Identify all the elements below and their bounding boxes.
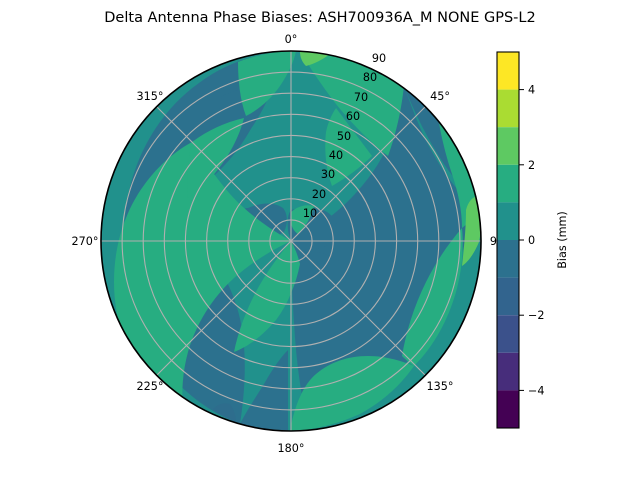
- angular-tick-135: 135°: [427, 380, 454, 393]
- colorbar-tick-neg2: −2: [528, 309, 545, 322]
- matplotlib-figure: Delta Antenna Phase Biases: ASH700936A_M…: [0, 0, 640, 480]
- radial-tick-70: 70: [354, 91, 368, 104]
- radial-tick-10: 10: [303, 207, 317, 220]
- colorbar-band-0to1: [497, 202, 519, 240]
- colorbar-band-1to2: [497, 165, 519, 203]
- polar-grid: [101, 51, 481, 431]
- colorbar-band-neg4toneg3: [497, 353, 519, 391]
- angular-tick-315: 315°: [137, 90, 164, 103]
- colorbar-band-neg5toneg4: [497, 390, 519, 428]
- angular-tick-180: 180°: [278, 442, 305, 455]
- angular-tick-0: 0°: [285, 33, 298, 46]
- angular-tick-270: 270°: [72, 235, 99, 248]
- radial-tick-60: 60: [346, 110, 360, 123]
- radial-tick-90: 90: [372, 52, 386, 65]
- page-title: Delta Antenna Phase Biases: ASH700936A_M…: [104, 10, 535, 26]
- colorbar-tick-4: 4: [528, 84, 535, 97]
- radial-tick-20: 20: [312, 188, 326, 201]
- colorbar-band-neg3toneg2: [497, 315, 519, 353]
- colorbar-band-neg1to0: [497, 240, 519, 278]
- colorbar-tick-neg4: −4: [528, 384, 545, 397]
- colorbar-tick-2: 2: [528, 159, 535, 172]
- polar-plot-area: 0° 45° 90 135° 180° 225° 270° 315° 10 20…: [72, 33, 505, 455]
- colorbar-axis-label: Bias (mm): [556, 211, 569, 269]
- radial-tick-50: 50: [337, 130, 351, 143]
- colorbar-tick-0: 0: [528, 234, 535, 247]
- radial-tick-40: 40: [329, 149, 343, 162]
- colorbar-band-3to4: [497, 90, 519, 128]
- radial-tick-80: 80: [363, 71, 377, 84]
- colorbar-band-4to5: [497, 52, 519, 90]
- colorbar-band-neg2toneg1: [497, 278, 519, 316]
- colorbar-band-2to3: [497, 127, 519, 165]
- angular-tick-225: 225°: [137, 380, 164, 393]
- angular-tick-45: 45°: [430, 90, 450, 103]
- radial-tick-30: 30: [321, 168, 335, 181]
